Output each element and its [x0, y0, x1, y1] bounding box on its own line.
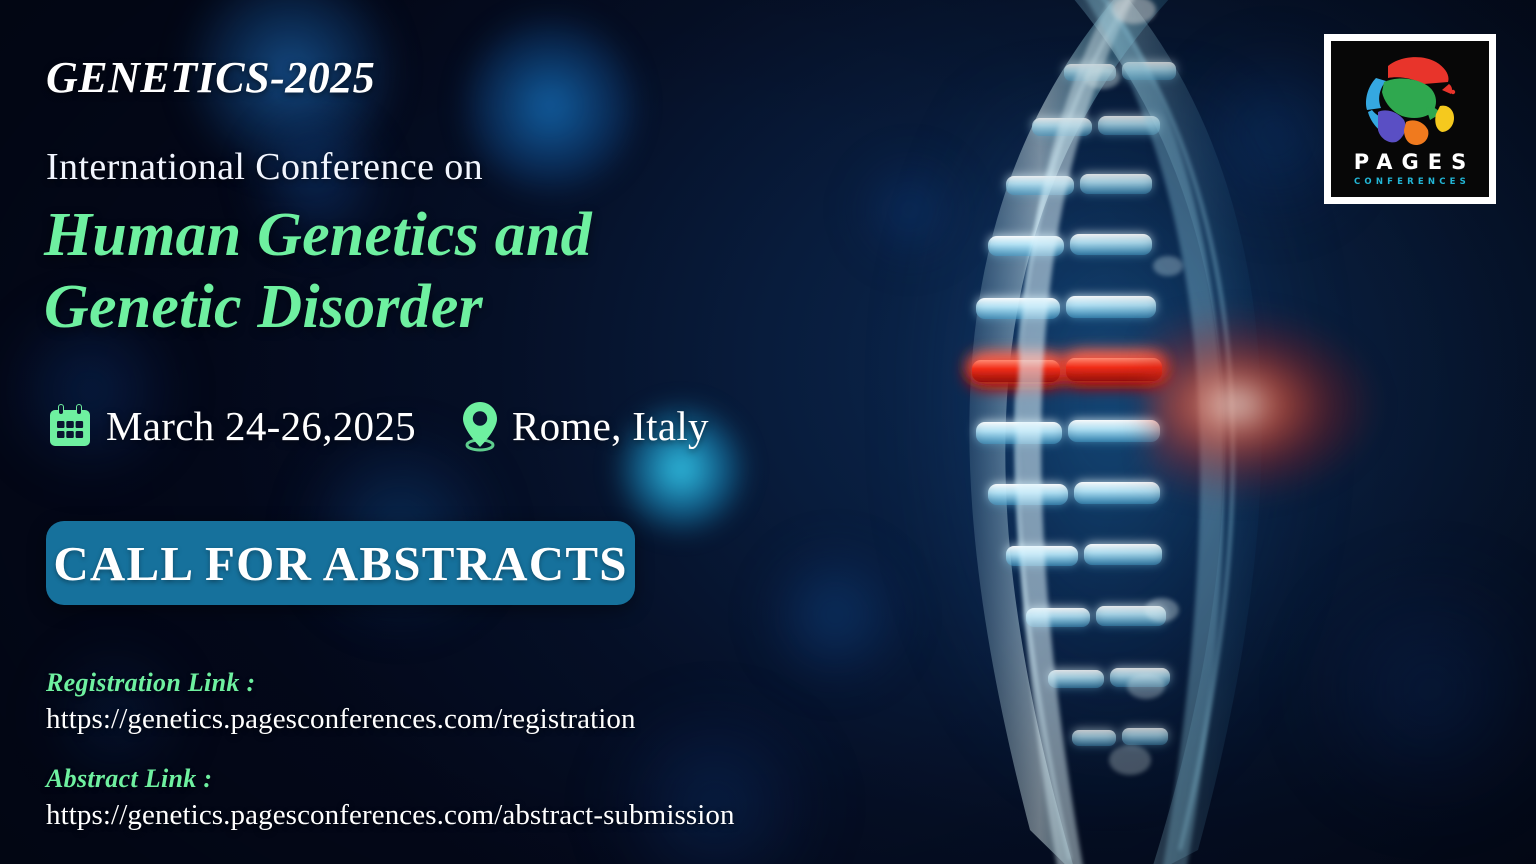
registration-link-block: Registration Link : https://genetics.pag…: [46, 668, 735, 736]
conference-banner: PAGES CONFERENCES GENETICS-2025 Internat…: [0, 0, 1536, 864]
event-date: March 24-26,2025: [106, 402, 416, 450]
map-pin-icon: [460, 400, 500, 452]
banner-content: GENETICS-2025 International Conference o…: [0, 0, 1536, 864]
event-location-item: Rome, Italy: [460, 400, 709, 452]
abstract-link-label: Abstract Link :: [46, 764, 735, 794]
cta-label: CALL FOR ABSTRACTS: [53, 535, 627, 592]
abstract-link-url[interactable]: https://genetics.pagesconferences.com/ab…: [46, 799, 735, 832]
event-meta-row: March 24-26,2025 Rome, Italy: [46, 400, 709, 452]
links-section: Registration Link : https://genetics.pag…: [46, 668, 735, 832]
call-for-abstracts-button[interactable]: CALL FOR ABSTRACTS: [46, 521, 635, 605]
abstract-link-block: Abstract Link : https://genetics.pagesco…: [46, 764, 735, 832]
event-location: Rome, Italy: [512, 402, 709, 450]
event-date-item: March 24-26,2025: [46, 402, 416, 450]
event-code: GENETICS-2025: [46, 52, 375, 103]
title-line-1: Human Genetics and: [44, 201, 592, 269]
registration-link-url[interactable]: https://genetics.pagesconferences.com/re…: [46, 703, 735, 736]
title-line-2: Genetic Disorder: [44, 272, 592, 344]
pretitle: International Conference on: [46, 145, 483, 189]
registration-link-label: Registration Link :: [46, 668, 735, 698]
page-title: Human Genetics and Genetic Disorder: [44, 200, 592, 344]
calendar-icon: [46, 402, 94, 450]
